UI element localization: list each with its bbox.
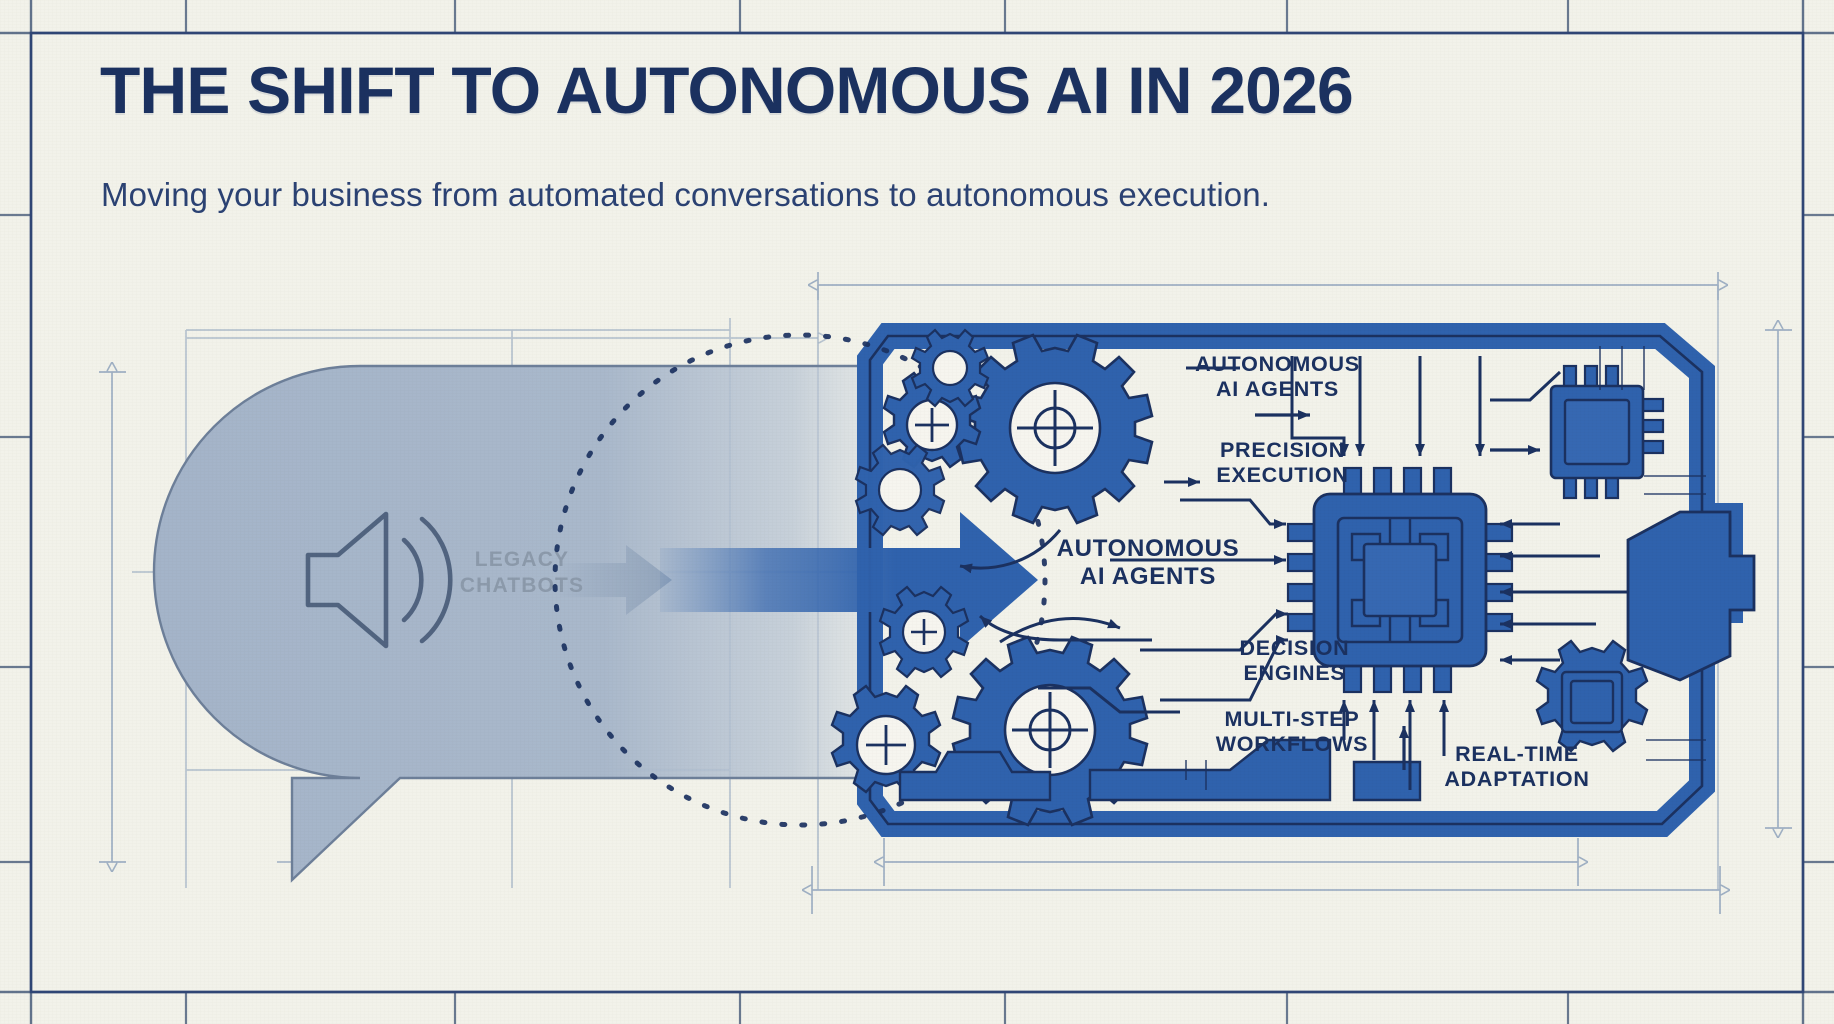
callout-line2: EXECUTION [1200,463,1365,488]
callout-line1: REAL-TIME [1422,742,1612,767]
center-label-line1: AUTONOMOUS [1048,535,1248,563]
callout-line2: ADAPTATION [1422,767,1612,792]
callout-line1: DECISION [1212,636,1377,661]
callout-real-time-adaptation: REAL-TIME ADAPTATION [1422,742,1612,793]
callout-multi-step-workflows: MULTI-STEP WORKFLOWS [1196,707,1388,758]
transition-arrow-large [660,512,1038,648]
autonomous-board-group [0,0,1834,1024]
callout-decision-engines: DECISION ENGINES [1212,636,1377,687]
callout-line2: ENGINES [1212,661,1377,686]
infographic-canvas: THE SHIFT TO AUTONOMOUS AI IN 2026 Movin… [0,0,1834,1024]
callout-autonomous-ai-agents: AUTONOMOUS AI AGENTS [1190,352,1365,403]
callout-line1: AUTONOMOUS [1190,352,1365,377]
callout-line2: AI AGENTS [1190,377,1365,402]
center-label-line2: AI AGENTS [1048,563,1248,591]
gear-large-upper [958,335,1152,523]
callout-line2: WORKFLOWS [1196,732,1388,757]
callout-precision-execution: PRECISION EXECUTION [1200,438,1365,489]
chip-top-right [1551,366,1663,498]
callout-line1: PRECISION [1200,438,1365,463]
callout-center-autonomous-ai-agents: AUTONOMOUS AI AGENTS [1048,535,1248,592]
callout-line1: MULTI-STEP [1196,707,1388,732]
